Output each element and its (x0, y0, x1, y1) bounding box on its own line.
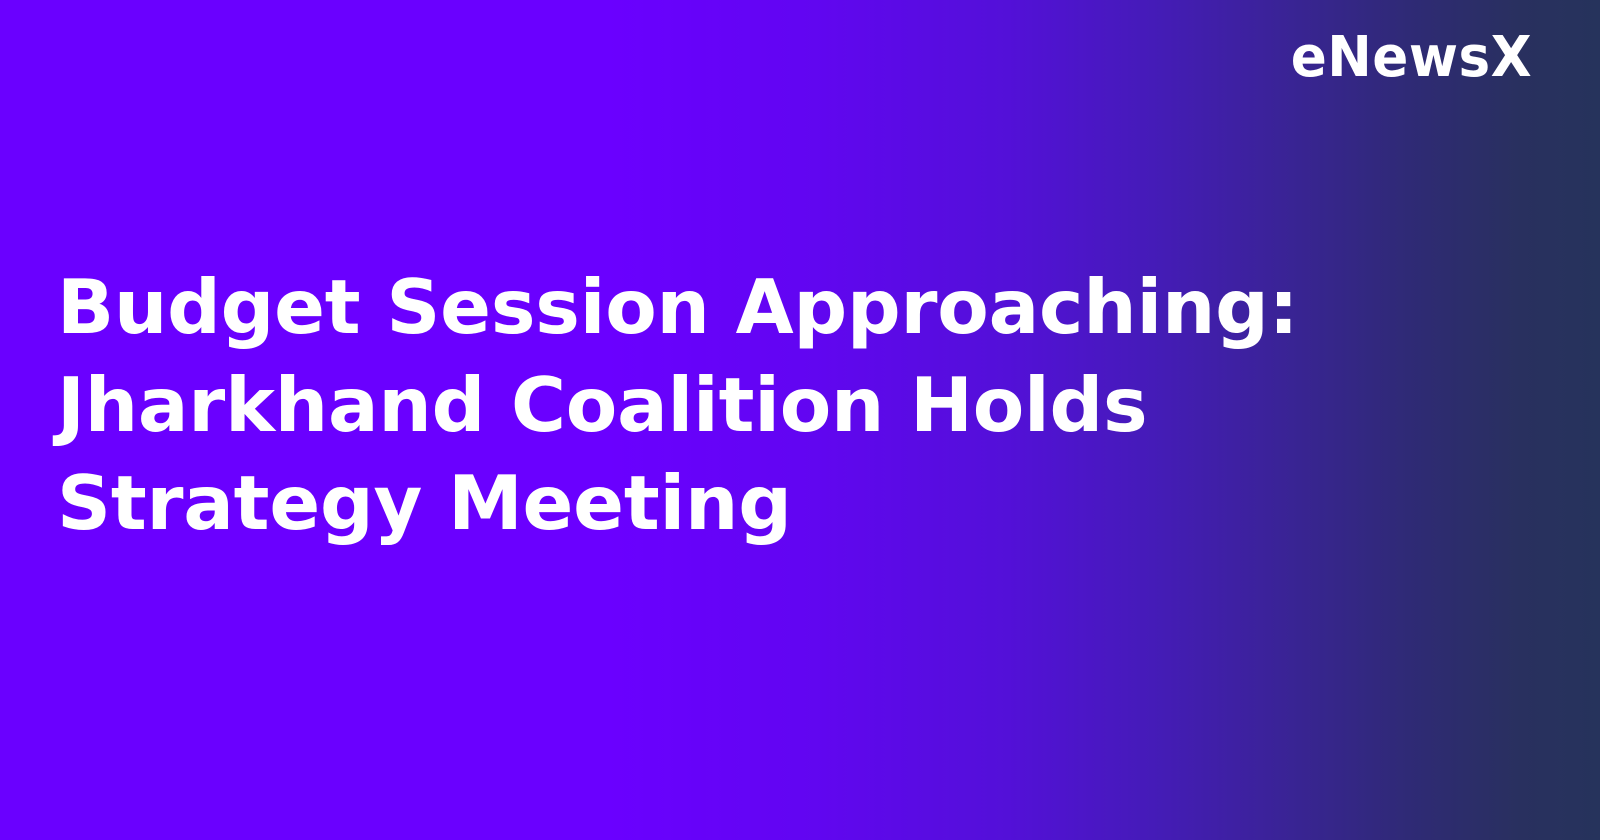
article-headline: Budget Session Approaching: Jharkhand Co… (57, 258, 1487, 552)
news-share-card: eNewsX Budget Session Approaching: Jhark… (0, 0, 1600, 840)
brand-wordmark: eNewsX (1291, 30, 1532, 86)
headline-block: Budget Session Approaching: Jharkhand Co… (57, 258, 1487, 552)
brand-logo[interactable]: eNewsX (1278, 30, 1532, 86)
